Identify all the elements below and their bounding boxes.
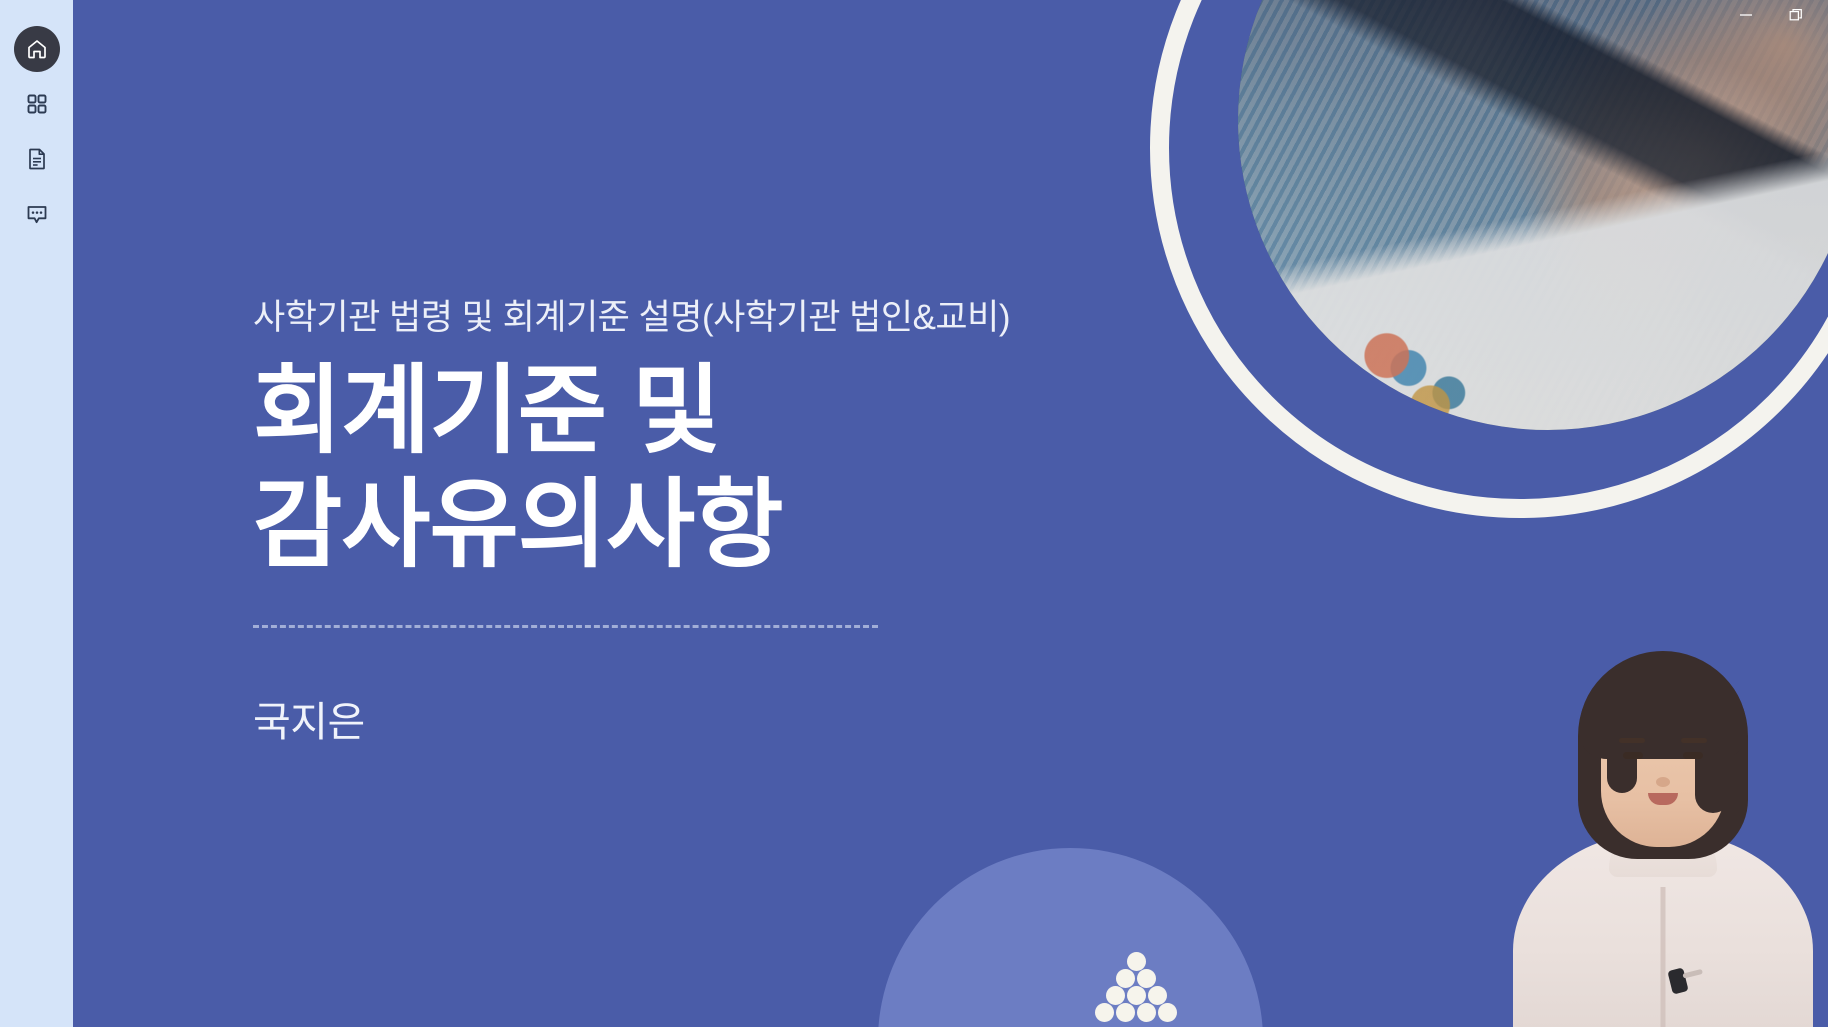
sidebar-item-index[interactable] <box>14 81 60 127</box>
dot <box>1127 986 1146 1005</box>
lecture-player-window: 사학기관 법령 및 회계기준 설명(사학기관 법인&교비) 회계기준 및 감사유… <box>0 0 1828 1027</box>
instructor-placket <box>1661 887 1666 1027</box>
dot <box>1137 969 1156 988</box>
home-icon <box>25 37 49 61</box>
instructor-hair-front <box>1579 655 1747 759</box>
page-title-line-1: 회계기준 및 <box>253 354 1253 468</box>
photo-tint-overlay <box>1238 0 1828 430</box>
dot <box>1116 969 1135 988</box>
sidebar-item-chat[interactable] <box>14 191 60 237</box>
window-controls <box>1724 0 1818 30</box>
dot <box>1137 1003 1156 1022</box>
presenter-name: 국지은 <box>253 688 1253 748</box>
slide-text-block: 사학기관 법령 및 회계기준 설명(사학기관 법인&교비) 회계기준 및 감사유… <box>253 296 1253 748</box>
business-meeting-photo <box>1238 0 1828 430</box>
instructor-brow-right <box>1681 738 1707 743</box>
dot <box>1148 986 1167 1005</box>
dot-row <box>1086 1003 1186 1022</box>
instructor-eye-left <box>1623 752 1643 759</box>
dot <box>1095 1003 1114 1022</box>
instructor-nose <box>1656 777 1670 787</box>
course-subtitle: 사학기관 법령 및 회계기준 설명(사학기관 법인&교비) <box>253 296 1253 340</box>
dot <box>1116 1003 1135 1022</box>
sidebar <box>0 0 73 1027</box>
slide-canvas: 사학기관 법령 및 회계기준 설명(사학기관 법인&교비) 회계기준 및 감사유… <box>73 0 1828 1027</box>
sidebar-item-home[interactable] <box>14 26 60 72</box>
page-title-line-2: 감사유의사항 <box>253 468 1253 582</box>
sidebar-item-document[interactable] <box>14 136 60 182</box>
instructor-video[interactable] <box>1498 627 1828 1027</box>
dot <box>1158 1003 1177 1022</box>
minimize-button[interactable] <box>1724 0 1768 30</box>
chat-icon <box>25 202 49 226</box>
dot-pyramid-decoration <box>1086 952 1186 1020</box>
restore-button[interactable] <box>1774 0 1818 30</box>
dot <box>1106 986 1125 1005</box>
document-icon <box>25 147 49 171</box>
dot <box>1127 952 1146 971</box>
grid-icon <box>25 92 49 116</box>
decorative-circle <box>878 848 1263 1027</box>
instructor-eye-right <box>1683 752 1703 759</box>
instructor-brow-left <box>1619 738 1645 743</box>
page-title: 회계기준 및 감사유의사항 <box>253 354 1253 583</box>
title-divider <box>253 625 878 628</box>
